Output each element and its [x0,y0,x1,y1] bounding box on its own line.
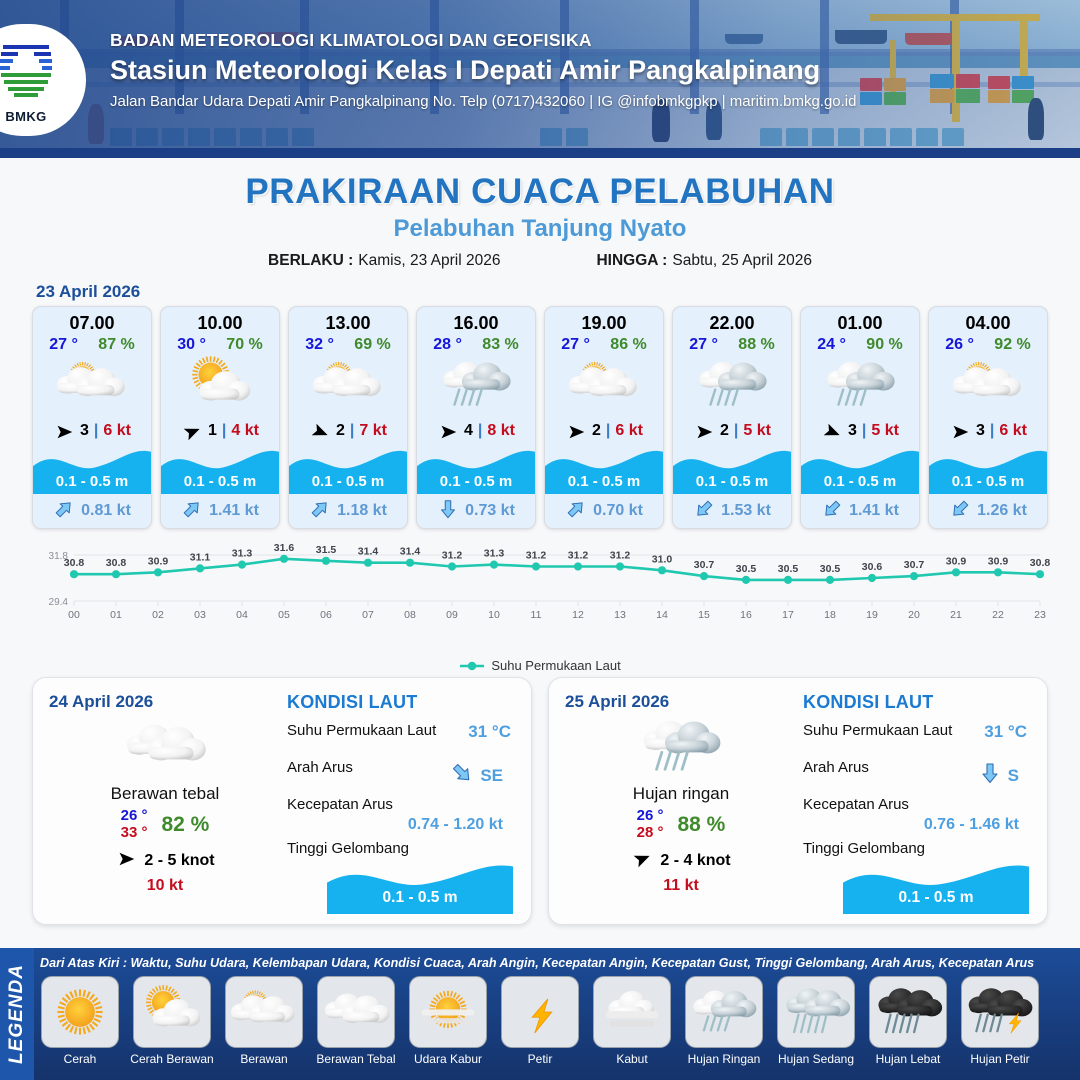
legend-note: Dari Atas Kiri : Waktu, Suhu Udara, Kele… [40,956,1074,970]
panel-wind-direction-icon [631,848,653,875]
svg-text:31.5: 31.5 [316,544,337,556]
card-time: 22.00 [673,307,791,334]
svg-text:03: 03 [194,609,206,621]
panel-wave-band: 0.1 - 0.5 m [327,860,513,914]
forecast-card[interactable]: 16.00 28 ° 83 % 4 | 8 kt 0.1 - [416,306,536,529]
legend-item-label: Kabut [588,1052,676,1066]
legend-item-label: Hujan Ringan [680,1052,768,1066]
svg-text:10: 10 [488,609,500,621]
current-speed: 1.41 kt [209,502,259,520]
gust-speed: 6 kt [615,422,643,440]
panel-gust: 10 kt [49,877,281,895]
sst-chart-plot: 31.829.400010203040506070809101112131415… [30,537,1050,629]
card-humidity: 87 % [98,336,134,354]
card-time: 19.00 [545,307,663,334]
svg-text:31.0: 31.0 [652,553,673,565]
berawan-icon [289,354,407,416]
wind-direction-icon [437,421,459,441]
svg-text:30.5: 30.5 [778,563,799,575]
wind-speed: 1 [208,422,217,440]
card-temperature: 30 ° [177,336,206,354]
wave-height-band: 0.1 - 0.5 m [161,446,279,494]
card-time: 16.00 [417,307,535,334]
svg-text:30.9: 30.9 [988,555,1009,567]
wind-separator: | [862,422,866,440]
station-address: Jalan Bandar Udara Depati Amir Pangkalpi… [110,93,856,110]
bmkg-emblem-icon [0,37,57,103]
panel-humidity: 88 % [677,813,725,837]
udara-kabur-icon [409,976,487,1048]
card-temperature: 26 ° [945,336,974,354]
svg-text:30.9: 30.9 [946,555,967,567]
svg-text:30.5: 30.5 [736,563,757,575]
svg-text:16: 16 [740,609,752,621]
legend-item-label: Berawan [220,1052,308,1066]
chart-legend-marker-icon [459,660,485,672]
svg-text:12: 12 [572,609,584,621]
card-temperature: 24 ° [817,336,846,354]
daily-forecast-panels: 24 April 2026 Berawan tebal 26 ° 33 ° 82… [0,673,1080,925]
panel-date: 24 April 2026 [49,692,281,712]
card-temperature: 32 ° [305,336,334,354]
current-speed: 1.41 kt [849,502,899,520]
legend-item-label: Udara Kabur [404,1052,492,1066]
wind-speed: 2 [720,422,729,440]
card-humidity: 88 % [738,336,774,354]
gust-speed: 7 kt [359,422,387,440]
legend-item: Cerah [36,976,124,1066]
chart-legend-label: Suhu Permukaan Laut [491,658,620,673]
card-humidity: 83 % [482,336,518,354]
forecast-card[interactable]: 19.00 27 ° 86 % 2 | 6 kt 0.1 - [544,306,664,529]
svg-text:30.7: 30.7 [694,559,715,571]
forecast-card[interactable]: 01.00 24 ° 90 % 3 | 5 kt 0.1 - [800,306,920,529]
chart-legend: Suhu Permukaan Laut [0,658,1080,673]
current-direction-icon [309,498,331,525]
forecast-card[interactable]: 22.00 27 ° 88 % 2 | 5 kt 0.1 - [672,306,792,529]
panel-condition: Hujan ringan [565,784,797,804]
wind-direction-icon [693,421,715,441]
wave-height-value: 0.1 - 0.5 m [161,473,279,490]
panel-gust: 11 kt [565,877,797,895]
title-block: PRAKIRAAN CUACA PELABUHAN Pelabuhan Tanj… [0,158,1080,270]
panel-temp-min: 26 ° [637,808,664,825]
legend-item-label: Hujan Sedang [772,1052,860,1066]
legend-item: Udara Kabur [404,976,492,1066]
validity-range: BERLAKU :Kamis, 23 April 2026 HINGGA :Sa… [0,252,1080,270]
wind-direction-icon [181,421,203,441]
berawan-icon [929,354,1047,416]
sea-condition-title: KONDISI LAUT [803,692,1031,713]
hujan-lebat-icon [869,976,947,1048]
panel-wave-band: 0.1 - 0.5 m [843,860,1029,914]
panel-wind-direction-icon [115,848,137,875]
wave-height-value: 0.1 - 0.5 m [801,473,919,490]
wave-height-band: 0.1 - 0.5 m [417,446,535,494]
current-speed: 0.81 kt [81,502,131,520]
wind-direction-icon [949,421,971,441]
legend-item: Berawan [220,976,308,1066]
wind-separator: | [350,422,354,440]
wind-speed: 3 [848,422,857,440]
svg-text:31.6: 31.6 [274,542,295,554]
sea-condition-title: KONDISI LAUT [287,692,515,713]
gust-speed: 5 kt [871,422,899,440]
panel-current-direction-icon [450,761,474,790]
card-humidity: 92 % [994,336,1030,354]
wind-separator: | [606,422,610,440]
gust-speed: 6 kt [999,422,1027,440]
legend-item: Hujan Petir [956,976,1044,1066]
svg-text:00: 00 [68,609,80,621]
station-name: Stasiun Meteorologi Kelas I Depati Amir … [110,55,856,86]
wave-height-value: 0.1 - 0.5 m [289,473,407,490]
svg-text:30.5: 30.5 [820,563,841,575]
current-speed-label: Kecepatan Arus [803,796,909,813]
wind-speed: 4 [464,422,473,440]
valid-from-value: Kamis, 23 April 2026 [358,252,500,269]
wind-speed: 2 [592,422,601,440]
wave-height-value: 0.1 - 0.5 m [545,473,663,490]
panel-wave-value: 0.1 - 0.5 m [843,889,1029,907]
legend-item-label: Berawan Tebal [312,1052,400,1066]
legend-item-label: Cerah Berawan [128,1052,216,1066]
svg-text:13: 13 [614,609,626,621]
card-temperature: 27 ° [689,336,718,354]
svg-text:07: 07 [362,609,374,621]
valid-from: BERLAKU :Kamis, 23 April 2026 [268,252,500,270]
wind-separator: | [990,422,994,440]
legend-item-label: Hujan Petir [956,1052,1044,1066]
current-direction-icon [181,498,203,525]
page-header: BMKG BADAN METEOROLOGI KLIMATOLOGI DAN G… [0,0,1080,158]
sst-chart: 31.829.400010203040506070809101112131415… [0,537,1080,657]
wave-height-band: 0.1 - 0.5 m [673,446,791,494]
current-direction-icon [437,498,459,525]
card-humidity: 70 % [226,336,262,354]
card-humidity: 86 % [610,336,646,354]
current-speed-value: 0.76 - 1.46 kt [803,816,1031,834]
current-direction-label: Arah Arus [803,759,869,776]
panel-wind-range: 2 - 5 knot [144,852,214,870]
wave-height-value: 0.1 - 0.5 m [673,473,791,490]
cerah-berawan-icon [133,976,211,1048]
panel-temp-max: 28 ° [637,825,664,842]
svg-text:30.9: 30.9 [148,555,169,567]
svg-text:11: 11 [531,609,542,621]
wind-separator: | [222,422,226,440]
berawan-icon [225,976,303,1048]
cerah-icon [41,976,119,1048]
forecast-card[interactable]: 10.00 30 ° 70 % 1 | 4 kt 0.1 - 0.5 m [160,306,280,529]
svg-text:31.2: 31.2 [568,550,589,562]
sea-temp-label: Suhu Permukaan Laut [287,722,436,739]
sea-temp-value: 31 °C [984,722,1027,742]
card-time: 01.00 [801,307,919,334]
svg-text:02: 02 [152,609,164,621]
current-speed-label: Kecepatan Arus [287,796,393,813]
hujan-ringan-icon [673,354,791,416]
sea-temp-value: 31 °C [468,722,511,742]
page-subtitle: Pelabuhan Tanjung Nyato [0,215,1080,243]
hujan-ringan-icon [801,354,919,416]
berawan-icon [545,354,663,416]
svg-text:20: 20 [908,609,920,621]
legend-footer: LEGENDA Dari Atas Kiri : Waktu, Suhu Uda… [0,948,1080,1080]
current-direction-icon [565,498,587,525]
wave-height-value: 0.1 - 0.5 m [33,473,151,490]
hujan-sedang-icon [777,976,855,1048]
header-text-block: BADAN METEOROLOGI KLIMATOLOGI DAN GEOFIS… [110,30,856,110]
card-humidity: 90 % [866,336,902,354]
wind-speed: 2 [336,422,345,440]
berawan-tebal-icon [317,976,395,1048]
svg-text:04: 04 [236,609,248,621]
wave-height-band: 0.1 - 0.5 m [545,446,663,494]
hourly-forecast-cards: 07.00 27 ° 87 % 3 | 6 kt 0.1 - [0,306,1080,529]
hujan-ringan-icon [685,976,763,1048]
svg-text:31.2: 31.2 [610,550,631,562]
page-title: PRAKIRAAN CUACA PELABUHAN [0,172,1080,212]
hujan-ringan-icon [417,354,535,416]
svg-text:21: 21 [950,609,962,621]
forecast-card[interactable]: 13.00 32 ° 69 % 2 | 7 kt 0.1 - [288,306,408,529]
wave-height-band: 0.1 - 0.5 m [289,446,407,494]
gust-speed: 8 kt [487,422,515,440]
current-direction-icon [53,498,75,525]
legend-item: Kabut [588,976,676,1066]
bmkg-logo-text: BMKG [0,109,58,124]
svg-text:08: 08 [404,609,416,621]
panel-wind-range: 2 - 4 knot [660,852,730,870]
gust-speed: 6 kt [103,422,131,440]
svg-text:29.4: 29.4 [49,597,69,608]
svg-text:30.8: 30.8 [1030,557,1050,569]
svg-text:18: 18 [824,609,836,621]
gust-speed: 5 kt [743,422,771,440]
legend-item: Hujan Ringan [680,976,768,1066]
legend-item: Hujan Sedang [772,976,860,1066]
valid-from-label: BERLAKU : [268,252,353,269]
card-time: 07.00 [33,307,151,334]
current-speed: 1.53 kt [721,502,771,520]
forecast-card[interactable]: 07.00 27 ° 87 % 3 | 6 kt 0.1 - [32,306,152,529]
svg-text:17: 17 [782,609,794,621]
svg-text:14: 14 [656,609,668,621]
current-direction-icon [949,498,971,525]
hujan-ringan-icon [565,714,797,780]
legend-item: Berawan Tebal [312,976,400,1066]
wave-height-value: 0.1 - 0.5 m [929,473,1047,490]
panel-condition: Berawan tebal [49,784,281,804]
panel-current-direction-icon [978,761,1002,790]
card-time: 13.00 [289,307,407,334]
current-speed: 0.70 kt [593,502,643,520]
wind-direction-icon [821,421,843,441]
svg-text:31.3: 31.3 [232,548,253,560]
wind-separator: | [734,422,738,440]
panel-wave-value: 0.1 - 0.5 m [327,889,513,907]
panel-date: 25 April 2026 [565,692,797,712]
current-direction-value: S [1008,766,1019,786]
wind-speed: 3 [80,422,89,440]
svg-text:23: 23 [1034,609,1046,621]
wind-speed: 3 [976,422,985,440]
legend-item: Cerah Berawan [128,976,216,1066]
wind-direction-icon [309,421,331,441]
svg-text:31.4: 31.4 [400,546,421,558]
current-speed: 0.73 kt [465,502,515,520]
card-temperature: 27 ° [49,336,78,354]
card-humidity: 69 % [354,336,390,354]
svg-text:30.8: 30.8 [64,557,85,569]
svg-text:30.6: 30.6 [862,561,883,573]
card-temperature: 27 ° [561,336,590,354]
legend-side-label: LEGENDA [6,964,28,1064]
svg-text:31.3: 31.3 [484,548,505,560]
legend-item: Hujan Lebat [864,976,952,1066]
berawan-tebal-icon [49,714,281,780]
svg-text:31.2: 31.2 [442,550,463,562]
card-temperature: 28 ° [433,336,462,354]
svg-text:31.4: 31.4 [358,546,379,558]
daily-forecast-panel[interactable]: 24 April 2026 Berawan tebal 26 ° 33 ° 82… [32,677,532,925]
valid-to-label: HINGGA : [596,252,667,269]
wave-height-band: 0.1 - 0.5 m [33,446,151,494]
svg-text:31.2: 31.2 [526,550,547,562]
card-time: 10.00 [161,307,279,334]
forecast-date: 23 April 2026 [36,282,1080,302]
forecast-card[interactable]: 04.00 26 ° 92 % 3 | 6 kt 0.1 - [928,306,1048,529]
legend-item-label: Hujan Lebat [864,1052,952,1066]
organization-name: BADAN METEOROLOGI KLIMATOLOGI DAN GEOFIS… [110,30,856,51]
wave-height-label: Tinggi Gelombang [803,840,925,857]
legend-item-label: Cerah [36,1052,124,1066]
berawan-icon [33,354,151,416]
svg-text:06: 06 [320,609,332,621]
svg-text:19: 19 [866,609,878,621]
header-bottom-bar [0,148,1080,158]
svg-text:31.1: 31.1 [190,551,211,563]
wave-height-label: Tinggi Gelombang [287,840,409,857]
current-direction-value: SE [480,766,503,786]
legend-item: Petir [496,976,584,1066]
svg-text:30.7: 30.7 [904,559,925,571]
current-speed: 1.26 kt [977,502,1027,520]
wave-height-band: 0.1 - 0.5 m [929,446,1047,494]
wind-direction-icon [53,421,75,441]
wind-separator: | [94,422,98,440]
current-direction-label: Arah Arus [287,759,353,776]
current-speed: 1.18 kt [337,502,387,520]
cerah-berawan-icon [161,354,279,416]
legend-item-label: Petir [496,1052,584,1066]
kabut-icon [593,976,671,1048]
panel-temp-max: 33 ° [121,825,148,842]
panel-humidity: 82 % [161,813,209,837]
legend-icon-list: Cerah Cerah Berawan Berawan [36,976,1078,1066]
svg-text:01: 01 [110,609,122,621]
wave-height-value: 0.1 - 0.5 m [417,473,535,490]
current-direction-icon [693,498,715,525]
valid-to-value: Sabtu, 25 April 2026 [672,252,812,269]
wind-separator: | [478,422,482,440]
wind-direction-icon [565,421,587,441]
current-speed-value: 0.74 - 1.20 kt [287,816,515,834]
gust-speed: 4 kt [231,422,259,440]
svg-text:30.8: 30.8 [106,557,127,569]
sea-temp-label: Suhu Permukaan Laut [803,722,952,739]
current-direction-icon [821,498,843,525]
valid-to: HINGGA :Sabtu, 25 April 2026 [596,252,812,270]
petir-icon [501,976,579,1048]
svg-text:15: 15 [698,609,710,621]
panel-temp-min: 26 ° [121,808,148,825]
wave-height-band: 0.1 - 0.5 m [801,446,919,494]
card-time: 04.00 [929,307,1047,334]
legend-side-tab: LEGENDA [0,948,34,1080]
hujan-petir-icon [961,976,1039,1048]
daily-forecast-panel[interactable]: 25 April 2026 Hujan ringan 26 ° 28 ° 88 … [548,677,1048,925]
svg-text:05: 05 [278,609,290,621]
svg-text:22: 22 [992,609,1004,621]
svg-text:09: 09 [446,609,458,621]
